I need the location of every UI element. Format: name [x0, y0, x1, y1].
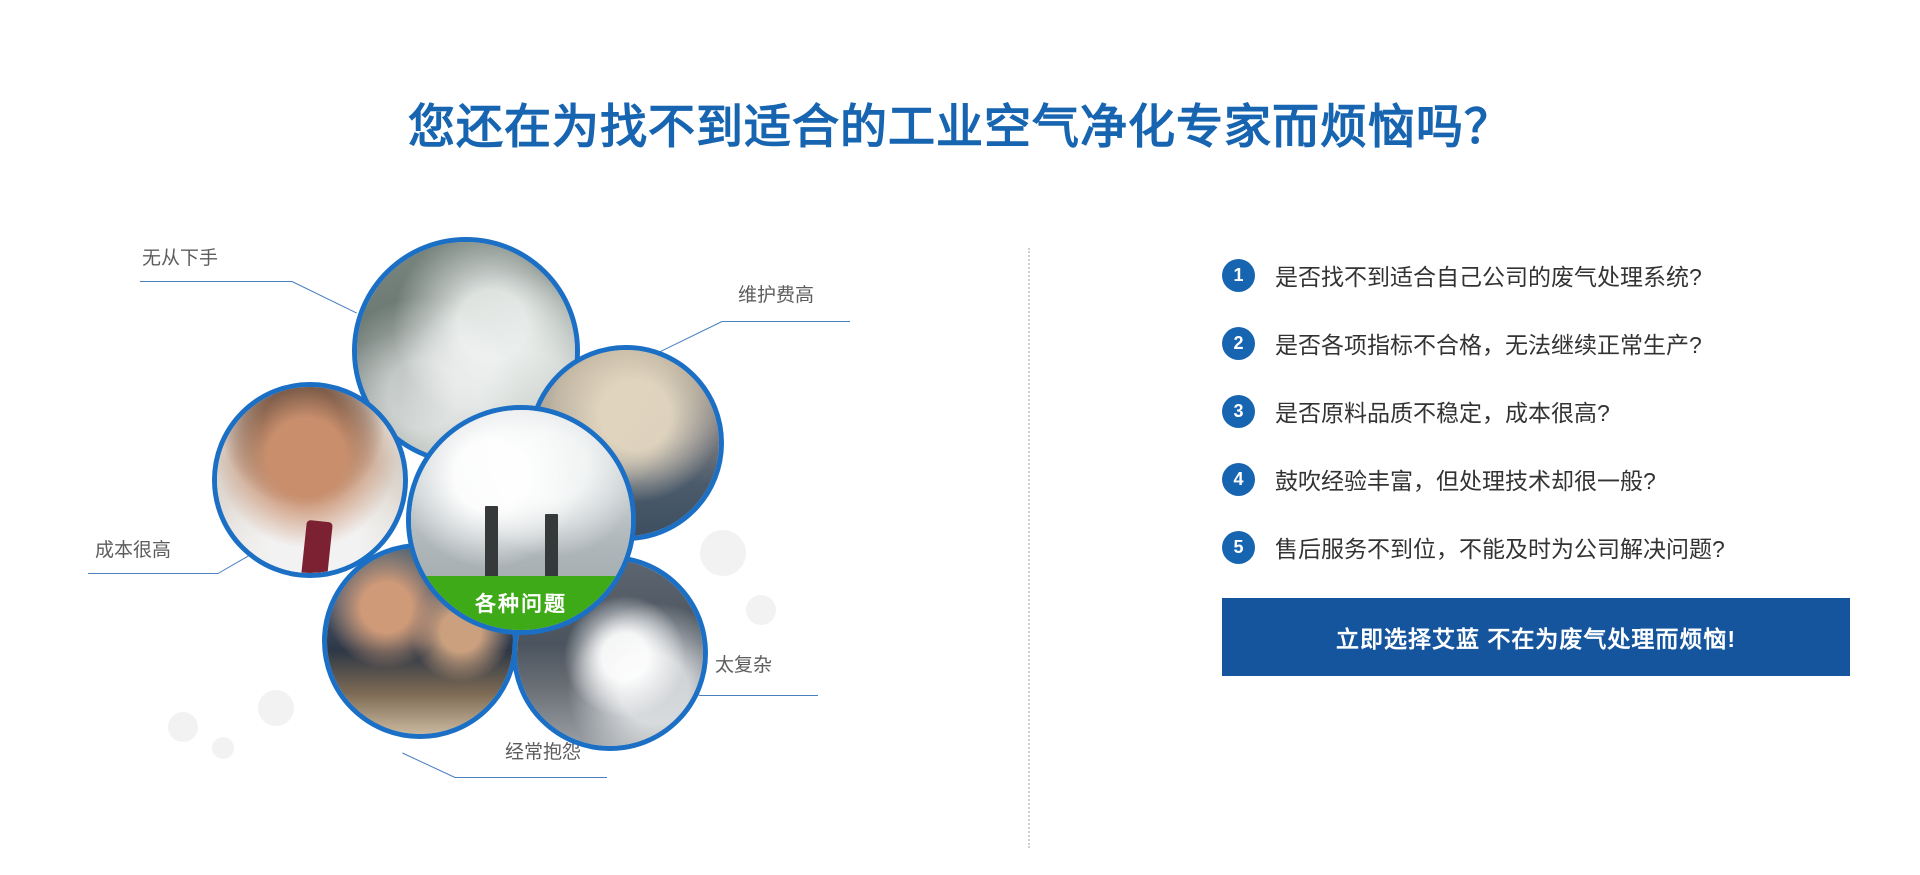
leader-line-top-left — [140, 281, 292, 282]
center-badge: 各种问题 — [411, 576, 631, 630]
photo-circle-center: 各种问题 — [406, 405, 636, 635]
leader-line-bottom-diagonal — [402, 753, 455, 778]
list-item-label: 鼓吹经验丰富，但处理技术却很一般? — [1275, 462, 1656, 496]
list-item-label: 是否各项指标不合格，无法继续正常生产? — [1275, 326, 1702, 360]
questions-panel: 1 是否找不到适合自己公司的废气处理系统? 2 是否各项指标不合格，无法继续正常… — [1222, 258, 1882, 676]
leader-line-top-right — [722, 321, 850, 322]
leader-line-bottom-right — [700, 695, 818, 696]
leader-line-top-left-diagonal — [292, 281, 357, 313]
problem-diagram: 无从下手 维护费高 成本很高 太复杂 经常抱怨 — [0, 225, 1020, 875]
list-number-badge: 2 — [1222, 327, 1255, 360]
list-item-label: 售后服务不到位，不能及时为公司解决问题? — [1275, 530, 1725, 564]
leader-line-bottom — [455, 777, 607, 778]
diagram-label-top-right: 维护费高 — [738, 280, 814, 307]
list-item-label: 是否找不到适合自己公司的废气处理系统? — [1275, 258, 1702, 292]
list-item: 2 是否各项指标不合格，无法继续正常生产? — [1222, 326, 1882, 360]
list-item: 3 是否原料品质不稳定，成本很高? — [1222, 394, 1882, 428]
list-number-badge: 1 — [1222, 259, 1255, 292]
list-item: 1 是否找不到适合自己公司的废气处理系统? — [1222, 258, 1882, 292]
list-number-badge: 5 — [1222, 531, 1255, 564]
diagram-label-bottom-right: 太复杂 — [715, 650, 772, 677]
decorative-dot — [258, 690, 294, 726]
list-number-badge: 4 — [1222, 463, 1255, 496]
promo-page: 您还在为找不到适合的工业空气净化专家而烦恼吗？ 无从下手 维护费高 成本很高 太… — [0, 0, 1920, 875]
leader-line-top-right-diagonal — [659, 321, 722, 353]
leader-line-left — [88, 573, 218, 574]
page-title: 您还在为找不到适合的工业空气净化专家而烦恼吗？ — [0, 88, 1920, 157]
cta-button[interactable]: 立即选择艾蓝 不在为废气处理而烦恼! — [1222, 598, 1850, 676]
list-number-badge: 3 — [1222, 395, 1255, 428]
list-item: 5 售后服务不到位，不能及时为公司解决问题? — [1222, 530, 1882, 564]
diagram-label-left: 成本很高 — [95, 535, 171, 562]
decorative-dot — [746, 595, 776, 625]
decorative-dot — [168, 712, 198, 742]
decorative-dot — [700, 530, 746, 576]
section-divider — [1028, 248, 1030, 848]
diagram-label-top-left: 无从下手 — [142, 243, 218, 270]
list-item-label: 是否原料品质不稳定，成本很高? — [1275, 394, 1610, 428]
decorative-dot — [212, 737, 234, 759]
list-item: 4 鼓吹经验丰富，但处理技术却很一般? — [1222, 462, 1882, 496]
